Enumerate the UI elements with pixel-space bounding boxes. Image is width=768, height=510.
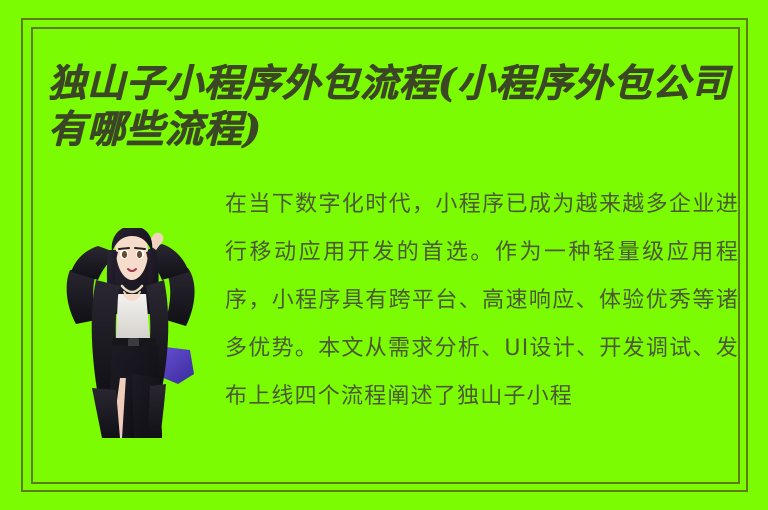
anime-woman-figure [62, 228, 202, 438]
article-body-text: 在当下数字化时代，小程序已成为越来越多企业进行移动应用开发的首选。作为一种轻量级… [225, 181, 739, 421]
poster-canvas: 独山子小程序外包流程(小程序外包公司有哪些流程) [0, 0, 768, 510]
page-title-text: 独山子小程序外包流程(小程序外包公司有哪些流程) [48, 60, 742, 152]
page-title: 独山子小程序外包流程(小程序外包公司有哪些流程) [48, 60, 742, 152]
anime-woman-illustration [62, 228, 202, 438]
article-body: 在当下数字化时代，小程序已成为越来越多企业进行移动应用开发的首选。作为一种轻量级… [225, 181, 739, 447]
